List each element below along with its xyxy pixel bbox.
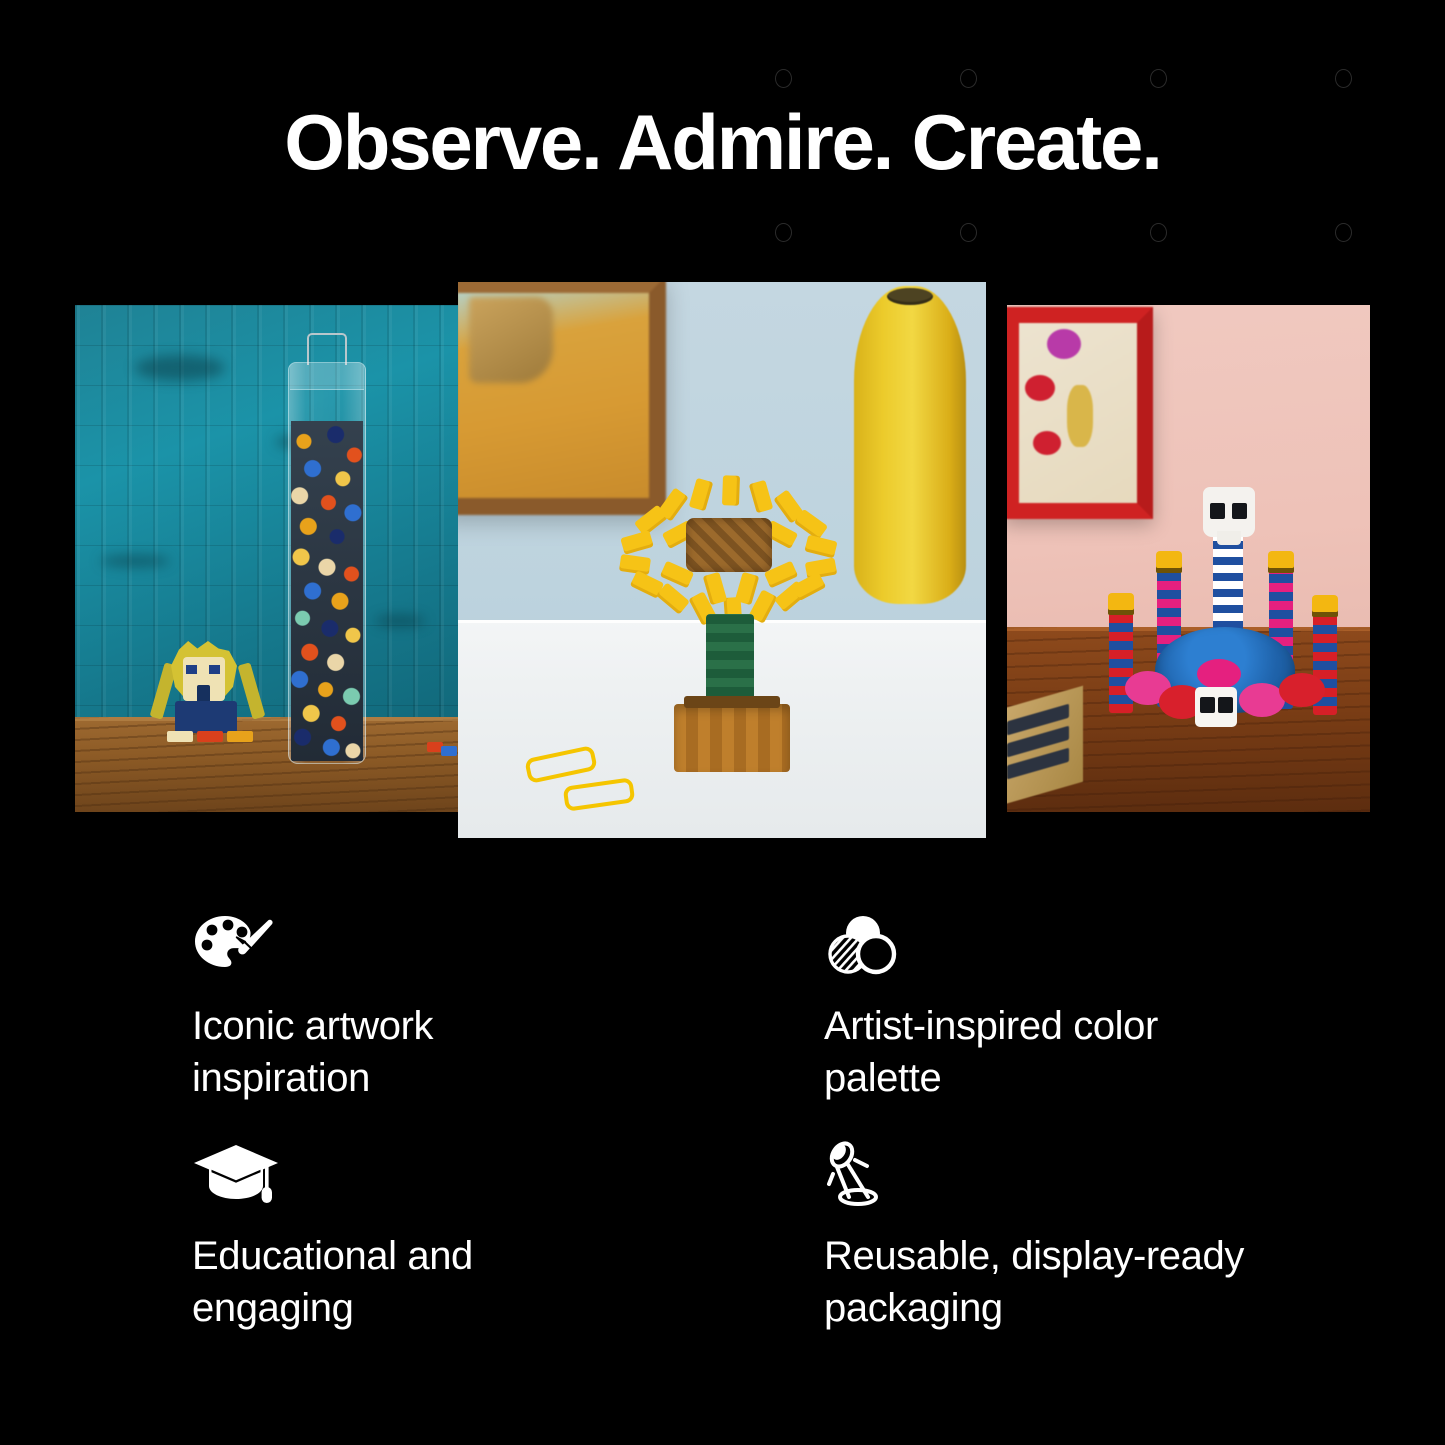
petal — [689, 478, 714, 512]
feature-label-line: Reusable, display-ready — [824, 1234, 1244, 1278]
petal — [804, 535, 837, 559]
feature-item: Educational and engaging — [192, 1142, 824, 1372]
feature-label-line: engaging — [192, 1286, 353, 1330]
feature-label-line: palette — [824, 1056, 941, 1100]
skull-eye-socket — [1232, 503, 1247, 519]
block-skull-large — [1203, 487, 1255, 537]
feature-label-line: Iconic artwork — [192, 1004, 433, 1048]
tube-hanger-hook — [307, 333, 347, 365]
block-flower-bloom — [1279, 673, 1325, 707]
skull-eye-socket — [1200, 697, 1215, 713]
feature-item: Artist-inspired color palette — [824, 912, 1332, 1142]
feature-label: Educational and engaging — [192, 1230, 662, 1334]
figure-body — [175, 701, 237, 733]
wall-texture-blotch — [100, 555, 170, 567]
figure-base-brick — [197, 731, 223, 742]
feature-label-line: packaging — [824, 1286, 1003, 1330]
petal — [722, 475, 740, 506]
skull-eye-socket — [1218, 697, 1233, 713]
feature-label: Reusable, display-ready packaging — [824, 1230, 1294, 1334]
graduation-cap-icon — [192, 1142, 824, 1206]
figure-eye — [186, 665, 197, 674]
figure-eye — [209, 665, 220, 674]
red-framed-artwork — [1007, 307, 1153, 519]
wall-texture-blotch — [135, 355, 225, 381]
block-skull-small — [1195, 687, 1237, 727]
figure-base-brick — [227, 731, 253, 742]
skull-eye-socket — [1210, 503, 1225, 519]
artwork-flower-motif — [1033, 431, 1061, 455]
sunflower-model — [614, 482, 844, 812]
product-photo-right — [1007, 305, 1370, 812]
feature-item: Reusable, display-ready packaging — [824, 1142, 1332, 1372]
wall-texture-blotch — [375, 615, 425, 627]
artwork-flower-motif — [1047, 329, 1081, 359]
petal — [620, 530, 654, 555]
color-swatches-icon — [824, 912, 1332, 976]
block-planter-pot — [674, 704, 790, 772]
block-tube-container — [288, 362, 366, 764]
candle-flame — [1156, 551, 1182, 573]
framed-painting — [458, 282, 666, 515]
artwork-flower-motif — [1025, 375, 1055, 401]
display-spotlight-icon — [824, 1142, 1332, 1206]
skull-jaw — [1217, 531, 1241, 545]
product-photo-left — [75, 305, 465, 812]
product-photo-center — [458, 282, 986, 838]
feature-list: Iconic artwork inspiration Artist-inspir… — [192, 912, 1332, 1372]
artwork-wheat-motif — [1067, 385, 1093, 447]
skeleton-spine — [1213, 533, 1243, 637]
wooden-table-surface — [75, 717, 465, 812]
feature-label: Artist-inspired color palette — [824, 1000, 1294, 1104]
candle-flame — [1108, 593, 1134, 615]
feature-label-line: inspiration — [192, 1056, 370, 1100]
feature-label-line: Educational and — [192, 1234, 473, 1278]
yellow-vase — [854, 286, 966, 604]
feature-label-line: Artist-inspired color — [824, 1004, 1158, 1048]
candle-flame — [1268, 551, 1294, 573]
figure-arm-right — [238, 662, 266, 719]
paint-palette-icon — [192, 912, 824, 976]
photo-gallery — [0, 0, 1445, 900]
tube-blocks-fill — [291, 421, 363, 761]
loose-block — [441, 746, 457, 756]
petal — [749, 480, 774, 514]
feature-label: Iconic artwork inspiration — [192, 1000, 662, 1104]
candle-flame — [1312, 595, 1338, 617]
feature-item: Iconic artwork inspiration — [192, 912, 824, 1142]
block-figure-model — [147, 635, 267, 755]
sunflower-center-disc — [686, 518, 772, 572]
tube-cap — [290, 363, 364, 390]
figure-base-brick — [167, 731, 193, 742]
